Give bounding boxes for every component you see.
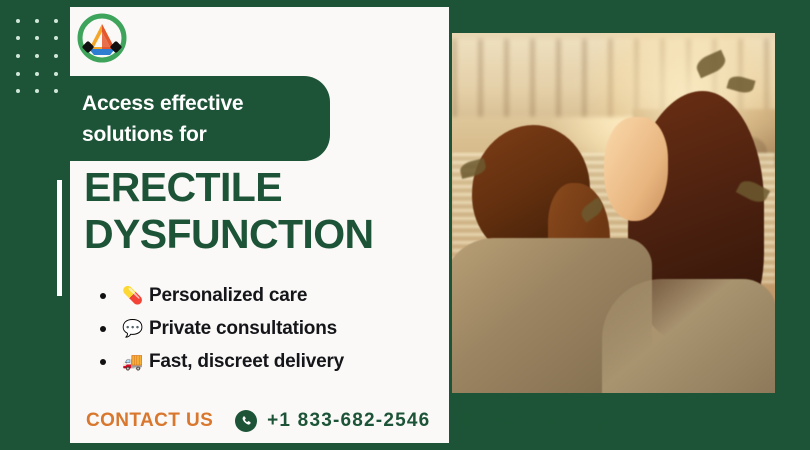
benefit-label: Fast, discreet delivery	[149, 345, 344, 378]
hero-photo	[452, 33, 775, 393]
eyebrow-line-1: Access effective	[82, 88, 330, 119]
list-item: 💊 Personalized care	[100, 279, 440, 312]
eyebrow-badge: Access effective solutions for	[58, 76, 330, 161]
benefit-label: Personalized care	[149, 279, 307, 312]
website-url[interactable]: www.algoapp.ca	[491, 411, 654, 432]
bullet-dot	[100, 326, 106, 332]
algoapp-logo	[75, 11, 129, 65]
headline-line-1: ERECTILE	[84, 164, 282, 210]
contact-us-label: CONTACT US	[86, 410, 213, 432]
headline-line-2: DYSFUNCTION	[84, 211, 444, 258]
photo-woman-face	[604, 117, 668, 221]
eyebrow-line-2: solutions for	[82, 119, 330, 150]
pill-icon: 💊	[122, 287, 142, 304]
page-title: ERECTILE DYSFUNCTION	[84, 164, 444, 258]
benefits-list: 💊 Personalized care 💬 Private consultati…	[100, 279, 440, 378]
photo-woman-body	[602, 279, 775, 393]
algoapp-triangle-logo-icon	[75, 11, 129, 65]
phone-number[interactable]: +1 833-682-2546	[267, 410, 430, 432]
speech-balloon-icon: 💬	[122, 320, 142, 337]
phone-icon	[235, 410, 257, 432]
bullet-dot	[100, 293, 106, 299]
bullet-dot	[100, 359, 106, 365]
list-item: 🚚 Fast, discreet delivery	[100, 345, 440, 378]
contact-bar: CONTACT US +1 833-682-2546 www.algoapp.c…	[86, 406, 654, 436]
globe-icon	[456, 411, 477, 432]
benefit-label: Private consultations	[149, 312, 337, 345]
list-item: 💬 Private consultations	[100, 312, 440, 345]
ad-banner: Access effective solutions for ERECTILE …	[0, 0, 810, 450]
delivery-truck-icon: 🚚	[122, 353, 142, 370]
accent-bar-decoration	[57, 180, 62, 296]
